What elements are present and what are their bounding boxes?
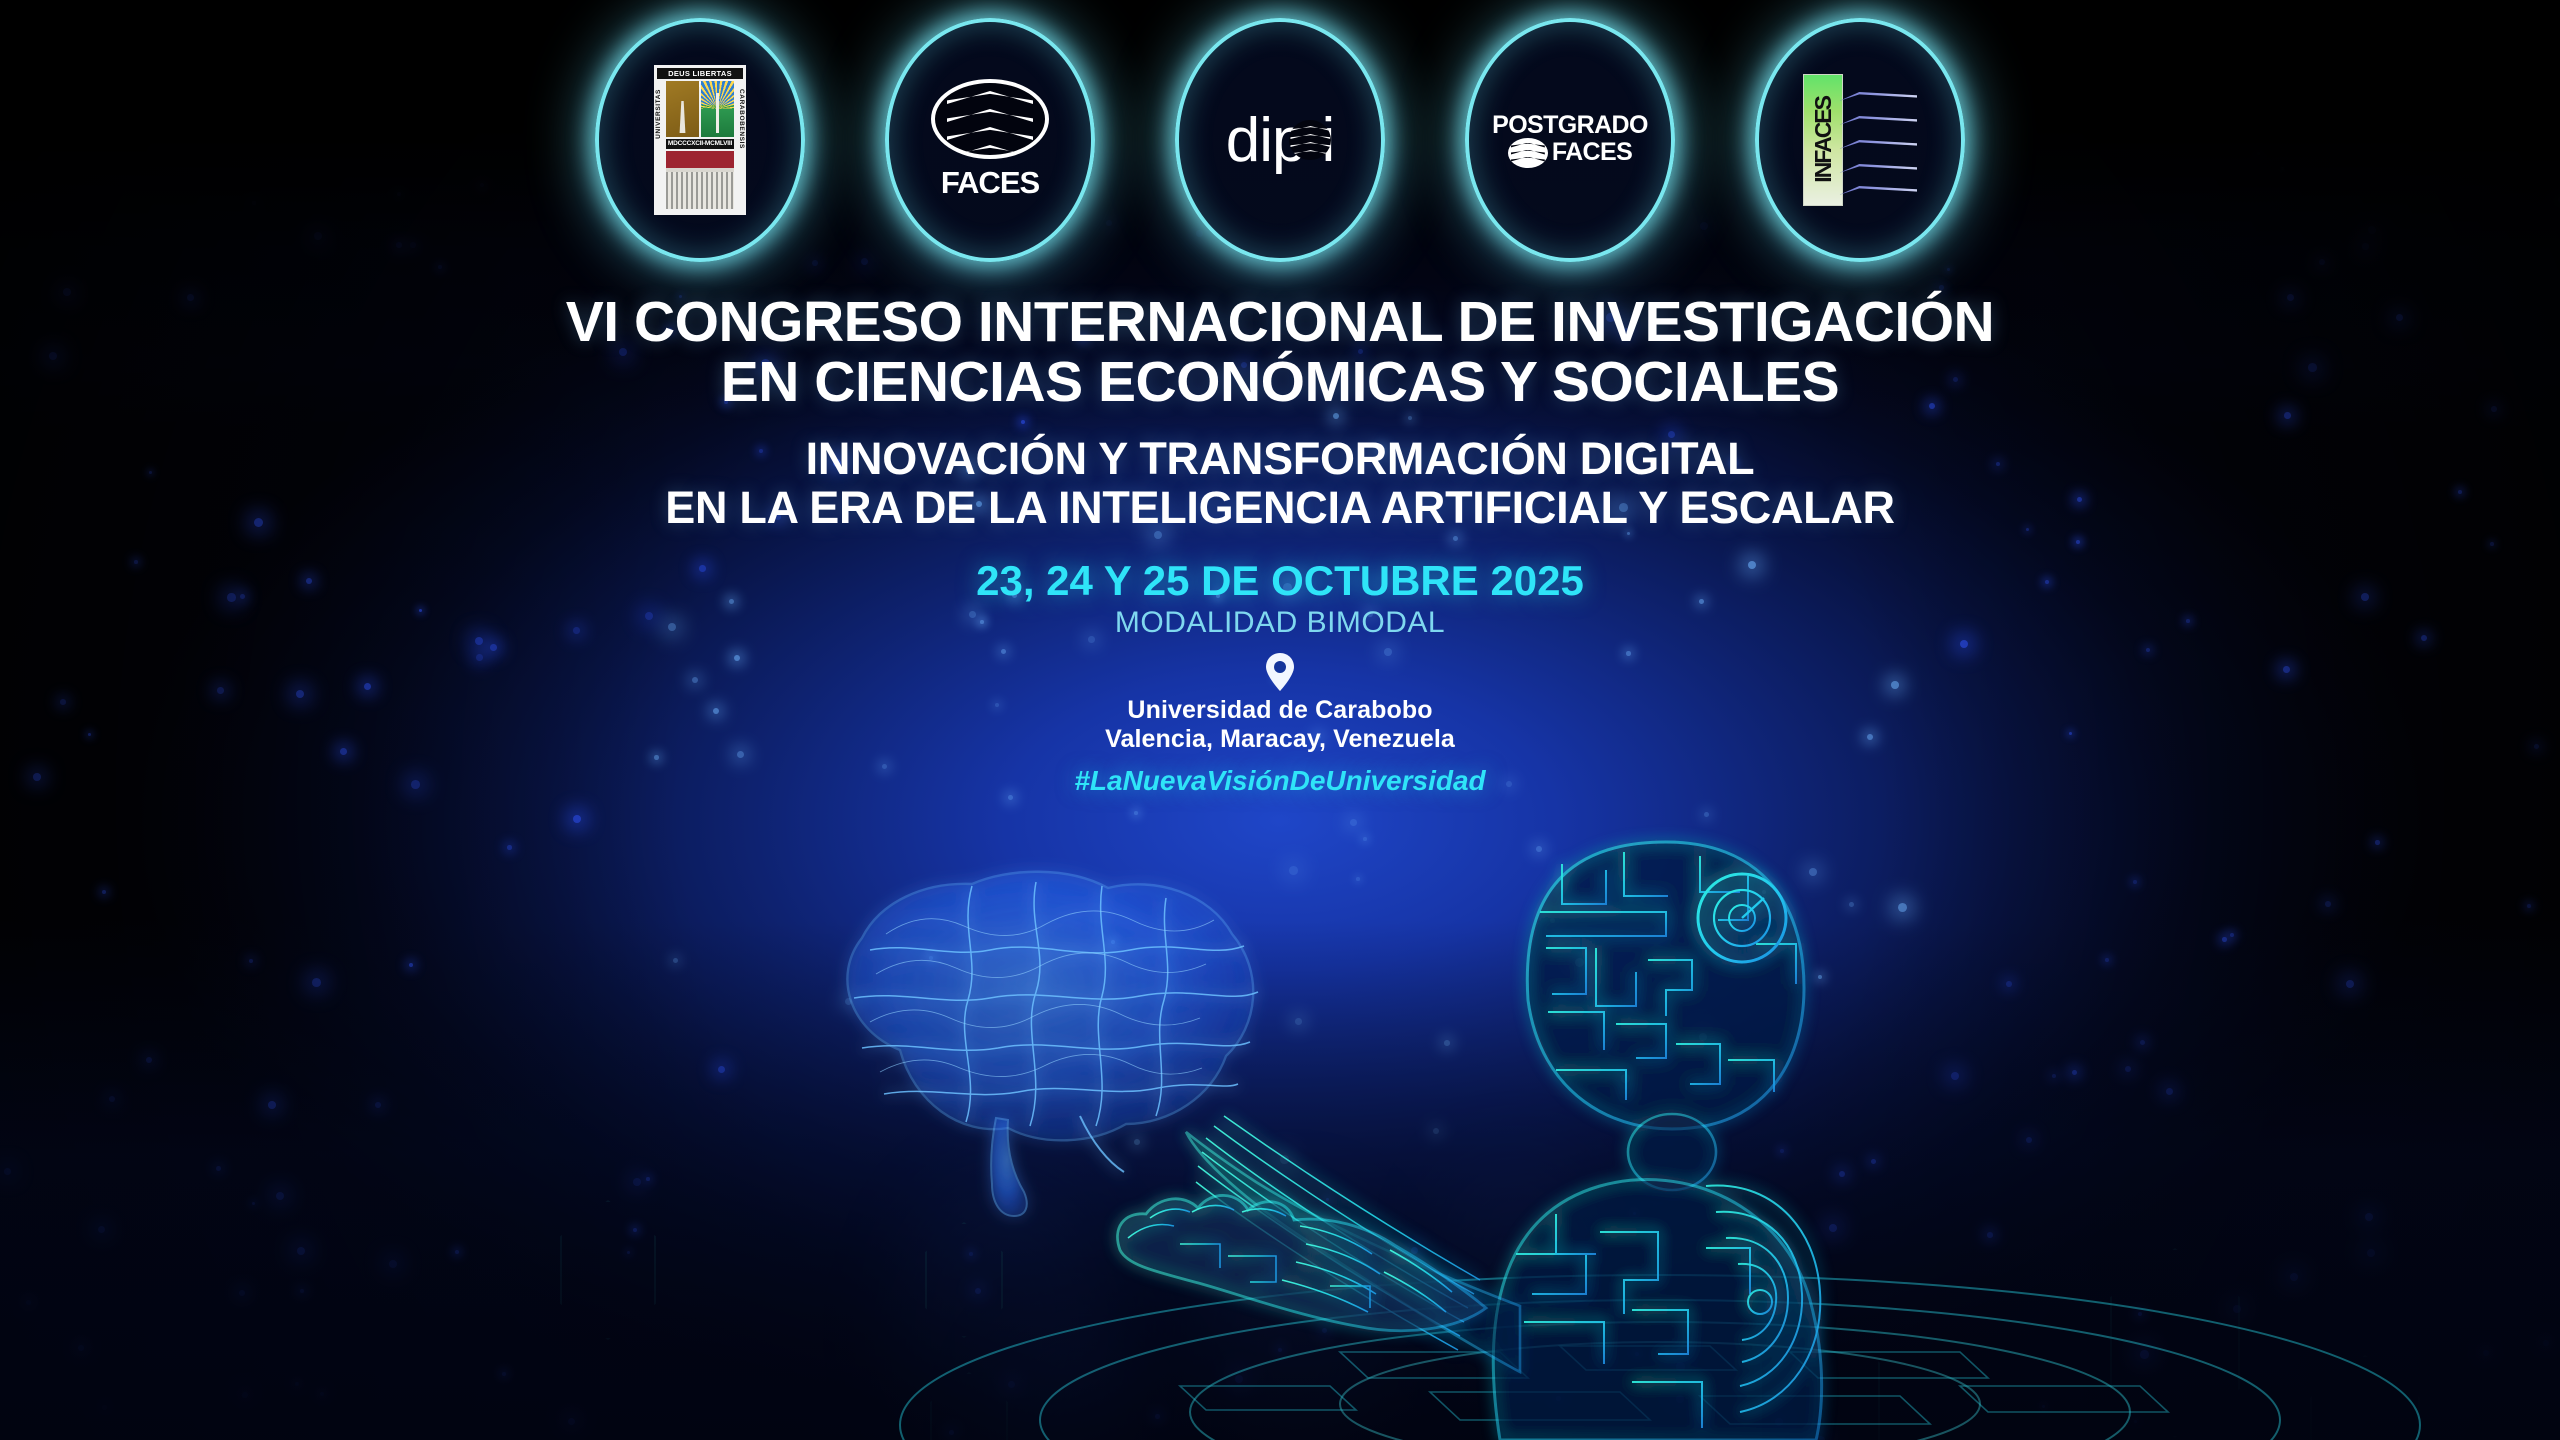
logo-row: DEUS LIBERTAS CULTURA MDCCCXCII-MCMLVIII… bbox=[0, 14, 2560, 266]
logo-universidad-de-carabobo[interactable]: DEUS LIBERTAS CULTURA MDCCCXCII-MCMLVIII… bbox=[595, 18, 805, 262]
infaces-emblem: INFACES bbox=[1803, 74, 1917, 206]
postgrado-emblem bbox=[1508, 138, 1548, 168]
dipi-letter-d: d bbox=[1226, 105, 1259, 176]
crest-dates: MDCCCXCII-MCMLVIII bbox=[666, 139, 734, 149]
postgrado-faces-wordmark: FACES bbox=[1552, 140, 1632, 165]
page-title-line-1: VI CONGRESO INTERNACIONAL DE INVESTIGACI… bbox=[0, 292, 2560, 352]
infaces-wordmark: INFACES bbox=[1810, 97, 1837, 183]
crest-quarter-lighthouse bbox=[701, 81, 734, 137]
poster-canvas: DEUS LIBERTAS CULTURA MDCCCXCII-MCMLVIII… bbox=[0, 0, 2560, 1440]
postgrado-wordmark: POSTGRADO bbox=[1492, 113, 1648, 138]
faces-wordmark: FACES bbox=[941, 165, 1039, 201]
subtitle-line-2: EN LA ERA DE LA INTELIGENCIA ARTIFICIAL … bbox=[0, 483, 2560, 532]
page-title-line-2: EN CIENCIAS ECONÓMICAS Y SOCIALES bbox=[0, 352, 2560, 412]
crest-side-right: CARABOBENSIS bbox=[738, 89, 745, 149]
faces-emblem bbox=[931, 79, 1049, 159]
logo-infaces[interactable]: INFACES bbox=[1755, 18, 1965, 262]
dipi-letter-i1: i bbox=[1259, 105, 1272, 176]
venue-line-1: Universidad de Carabobo bbox=[0, 696, 2560, 725]
subtitle-line-1: INNOVACIÓN Y TRANSFORMACIÓN DIGITAL bbox=[0, 434, 2560, 483]
logo-faces[interactable]: FACES bbox=[885, 18, 1095, 262]
event-modality: MODALIDAD BIMODAL bbox=[0, 606, 2560, 640]
event-dates: 23, 24 Y 25 DE OCTUBRE 2025 bbox=[0, 558, 2560, 604]
logo-postgrado-faces[interactable]: POSTGRADO FACES bbox=[1465, 18, 1675, 262]
infaces-chevron-lines bbox=[1839, 74, 1917, 206]
logo-dipi[interactable]: d i p i bbox=[1175, 18, 1385, 262]
map-pin-icon bbox=[1263, 652, 1297, 692]
bottom-fade bbox=[0, 920, 2560, 1440]
dipi-wordmark: d i p i bbox=[1226, 105, 1335, 176]
crest-side-left: UNIVERSITAS bbox=[655, 89, 662, 139]
crest-motto: DEUS LIBERTAS CULTURA bbox=[657, 68, 743, 79]
uc-crest: DEUS LIBERTAS CULTURA MDCCCXCII-MCMLVIII… bbox=[654, 65, 746, 215]
event-hashtag: #LaNuevaVisiónDeUniversidad bbox=[0, 764, 2560, 798]
venue-line-2: Valencia, Maracay, Venezuela bbox=[0, 725, 2560, 754]
crest-quarter-figures bbox=[666, 81, 699, 137]
poster-text-block: VI CONGRESO INTERNACIONAL DE INVESTIGACI… bbox=[0, 292, 2560, 798]
crest-building bbox=[666, 151, 734, 209]
